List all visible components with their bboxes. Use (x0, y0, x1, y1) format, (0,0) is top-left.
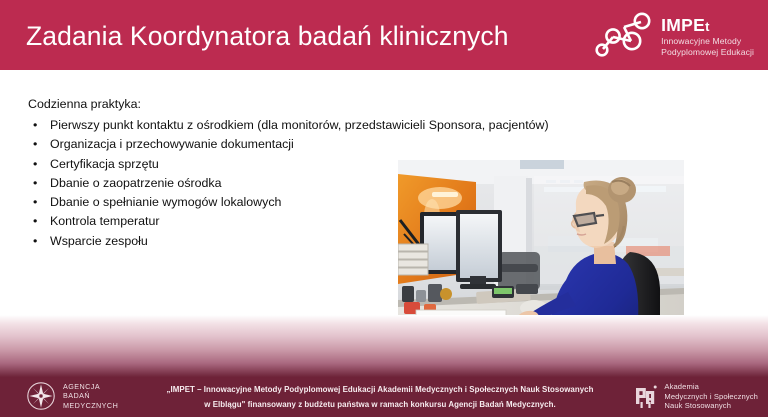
list-item-label: Organizacja i przechowywanie dokumentacj… (50, 137, 294, 151)
bullet-marker: • (33, 174, 37, 193)
list-item-label: Pierwszy punkt kontaktu z ośrodkiem (dla… (50, 118, 549, 132)
list-item: • Pierwszy punkt kontaktu z ośrodkiem (d… (28, 116, 549, 135)
funding-statement: „IMPET – Innowacyjne Metody Podyplomowej… (150, 383, 610, 412)
funding-line-2: w Elblągu" finansowany z budżetu państwa… (150, 398, 610, 413)
bullet-marker: • (33, 232, 37, 251)
akademia-logo: Akademia Medycznych i Społecznych Nauk S… (634, 382, 758, 411)
page-title: Zadania Koordynatora badań klinicznych (26, 19, 509, 53)
impet-logo: IMPEt Innowacyjne Metody Podyplomowej Ed… (591, 10, 754, 62)
slide-header-bar: Zadania Koordynatora badań klinicznych (0, 0, 768, 70)
footer-gradient-band (0, 315, 768, 377)
list-item: • Organizacja i przechowywanie dokumenta… (28, 135, 549, 154)
funding-line-1: „IMPET – Innowacyjne Metody Podyplomowej… (150, 383, 610, 398)
brand-name-suffix: t (705, 19, 710, 34)
list-item-label: Certyfikacja sprzętu (50, 157, 159, 171)
akademia-line-3: Nauk Stosowanych (664, 401, 758, 411)
abm-logo-text: AGENCJA BADAŃ MEDYCZNYCH (63, 382, 118, 410)
bullet-marker: • (33, 135, 37, 154)
presentation-slide: Zadania Koordynatora badań klinicznych (0, 0, 768, 417)
bullet-marker: • (33, 155, 37, 174)
agencja-badan-medycznych-logo: AGENCJA BADAŃ MEDYCZNYCH (26, 381, 118, 411)
list-item-label: Dbanie o spełnianie wymogów lokalowych (50, 195, 281, 209)
abm-line-2: BADAŃ (63, 391, 118, 400)
bullet-marker: • (33, 212, 37, 231)
akademia-logo-text: Akademia Medycznych i Społecznych Nauk S… (664, 382, 758, 411)
brand-name: IMPEt (661, 16, 754, 36)
bullet-marker: • (33, 193, 37, 212)
slide-footer-bar: AGENCJA BADAŃ MEDYCZNYCH „IMPET – Innowa… (0, 377, 768, 417)
list-item-label: Wsparcie zespołu (50, 234, 148, 248)
list-item-label: Kontrola temperatur (50, 214, 160, 228)
list-item-label: Dbanie o zaopatrzenie ośrodka (50, 176, 222, 190)
impet-logo-text: IMPEt Innowacyjne Metody Podyplomowej Ed… (661, 15, 754, 57)
brand-tagline-line-1: Innowacyjne Metody (661, 36, 754, 47)
akademia-line-1: Akademia (664, 382, 758, 392)
abm-line-1: AGENCJA (63, 382, 118, 391)
brand-tagline-line-2: Podyplomowej Edukacji (661, 47, 754, 58)
akademia-monogram-icon (634, 382, 658, 410)
bullet-marker: • (33, 116, 37, 135)
akademia-line-2: Medycznych i Społecznych (664, 392, 758, 402)
molecule-network-icon (591, 11, 653, 61)
intro-text: Codzienna praktyka: (28, 96, 141, 112)
abm-compass-star-icon (26, 381, 56, 411)
abm-line-3: MEDYCZNYCH (63, 401, 118, 410)
brand-name-main: IMPE (661, 15, 705, 35)
